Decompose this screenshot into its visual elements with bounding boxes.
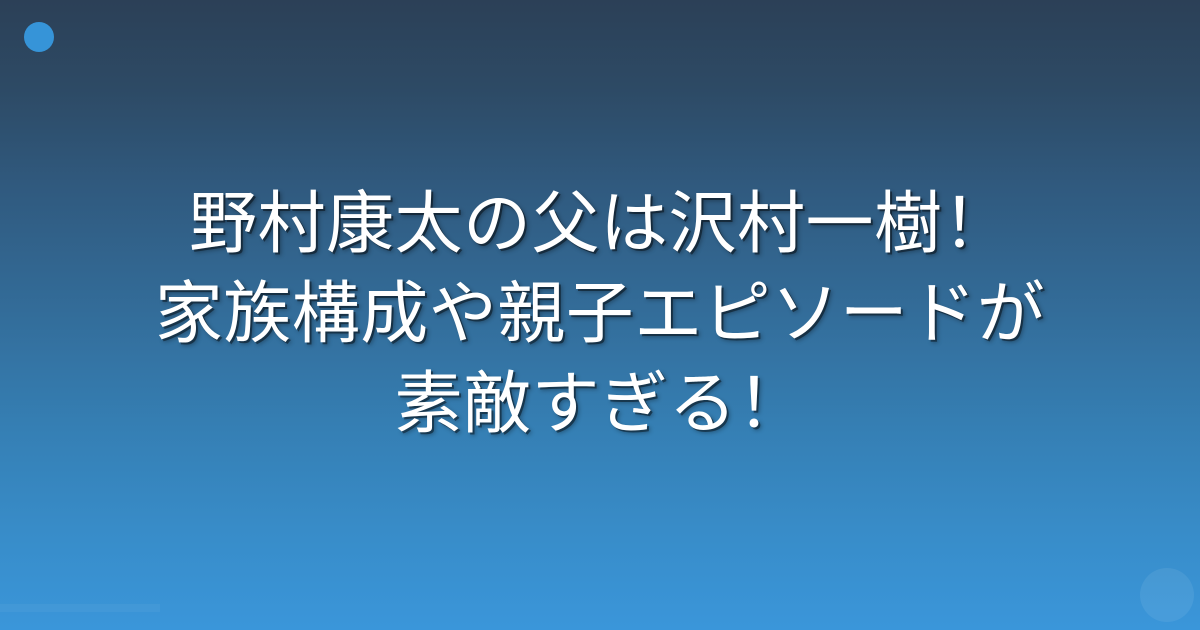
title-container: 野村康太の父は沢村一樹！ 家族構成や親子エピソードが 素敵すぎる！ (0, 0, 1200, 630)
og-image-card: 野村康太の父は沢村一樹！ 家族構成や親子エピソードが 素敵すぎる！ (0, 0, 1200, 630)
page-title: 野村康太の父は沢村一樹！ 家族構成や親子エピソードが 素敵すぎる！ (0, 180, 1200, 450)
